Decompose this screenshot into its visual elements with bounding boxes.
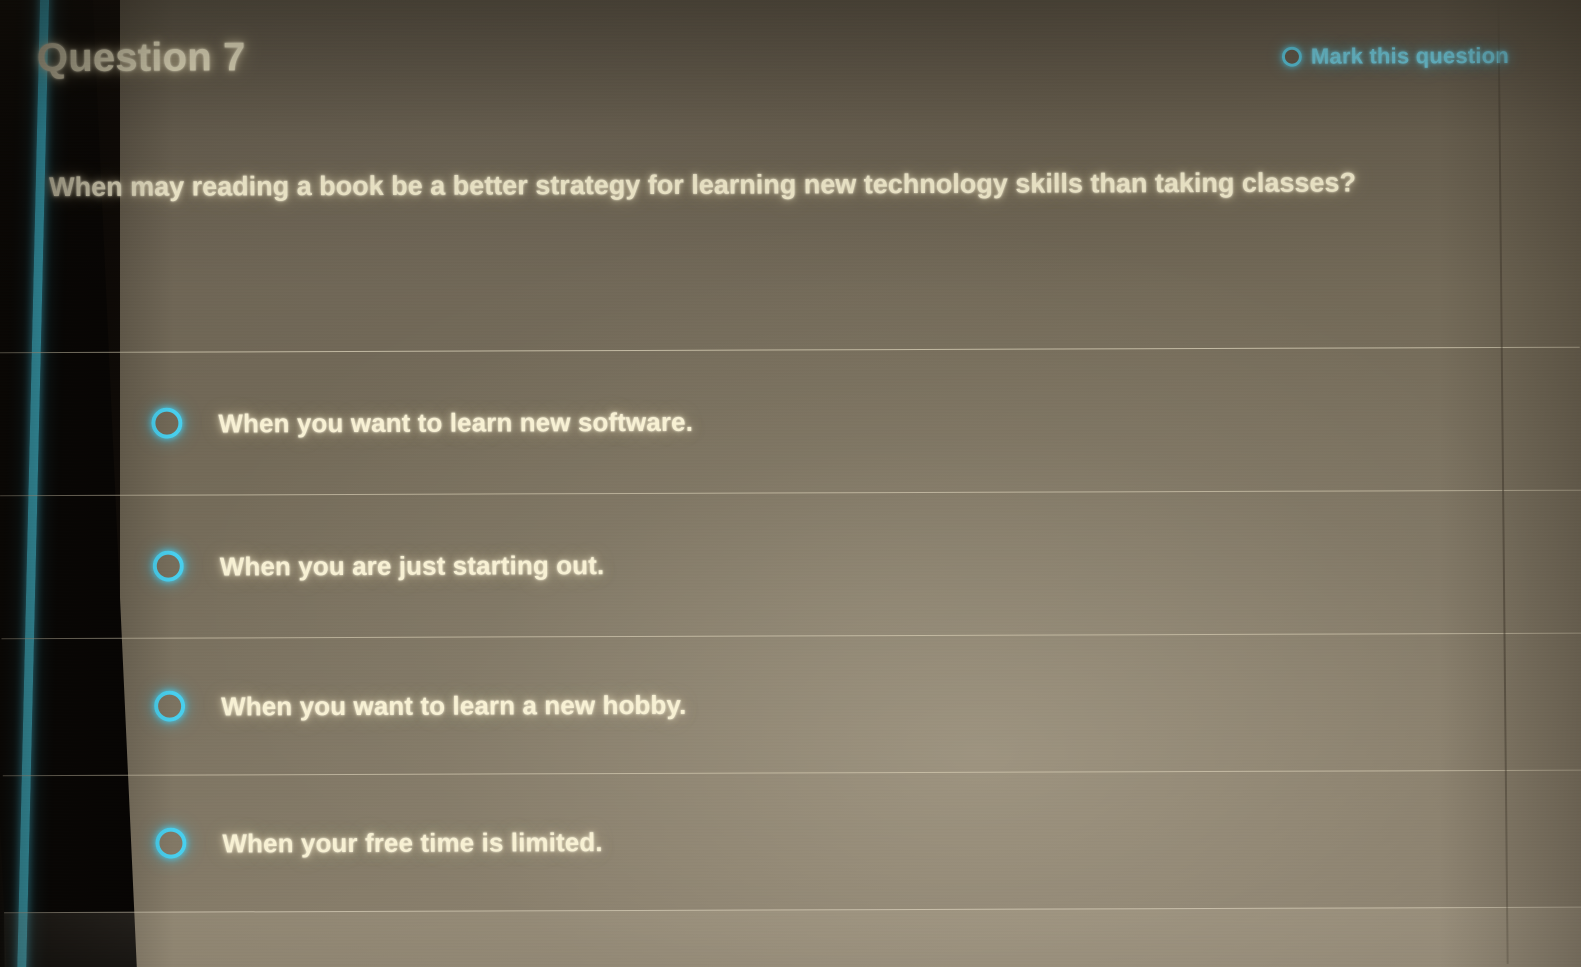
radio-circle-icon[interactable] [153, 551, 184, 582]
radio-circle-icon[interactable] [151, 408, 182, 439]
question-header: Question 7 Mark this question [0, 31, 1577, 109]
answer-option-label: When your free time is limited. [222, 827, 602, 859]
photographed-screen: Question 7 Mark this question When may r… [0, 0, 1581, 967]
answer-option-d[interactable]: When your free time is limited. [3, 770, 1581, 913]
radio-circle-icon[interactable] [155, 828, 186, 859]
quiz-content: Question 7 Mark this question When may r… [0, 0, 1581, 967]
answer-option-label: When you want to learn new software. [218, 406, 693, 439]
answer-option-next-partial[interactable] [4, 907, 1581, 967]
question-prompt-text: When may reading a book be a better stra… [49, 160, 1479, 210]
answer-option-c[interactable]: When you want to learn a new hobby. [1, 633, 1581, 776]
answer-option-b[interactable]: When you are just starting out. [0, 490, 1581, 639]
radio-circle-icon[interactable] [154, 691, 185, 722]
radio-circle-icon[interactable] [1282, 47, 1302, 67]
mark-this-question-button[interactable]: Mark this question [1282, 43, 1509, 70]
answer-option-label: When you are just starting out. [220, 550, 605, 582]
answer-option-label: When you want to learn a new hobby. [221, 689, 687, 722]
page-title: Question 7 [37, 35, 246, 81]
answer-options-list: When you want to learn new software. Whe… [0, 347, 1581, 967]
answer-option-a[interactable]: When you want to learn new software. [0, 347, 1581, 496]
